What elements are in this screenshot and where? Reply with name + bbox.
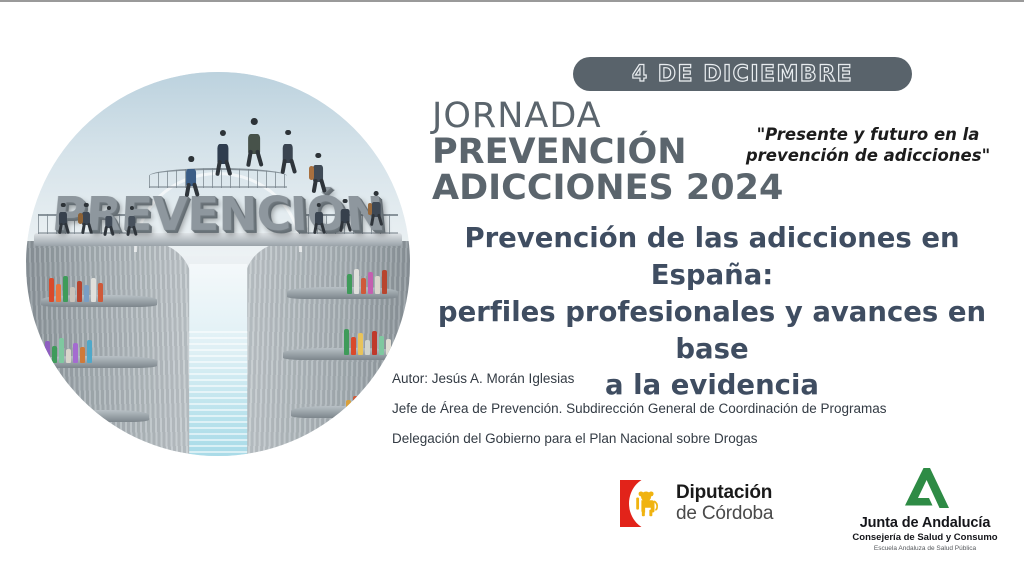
event-jornada: JORNADA [432, 98, 783, 134]
prevencion-bridge-illustration: PREVENCIÓN [26, 72, 410, 456]
author-name: Autor: Jesús A. Morán Iglesias [392, 372, 887, 386]
tagline-line-1: "Presente y futuro en la [742, 124, 994, 145]
diputacion-line-1: Diputación [676, 483, 773, 503]
event-name-block: JORNADA PREVENCIÓN ADICCIONES 2024 [432, 98, 783, 206]
walking-person [126, 206, 138, 235]
andalucia-a-icon [901, 468, 949, 508]
event-prevencion: PREVENCIÓN [432, 134, 783, 170]
river [189, 264, 247, 456]
walking-person [80, 203, 93, 234]
diputacion-lion-icon [620, 480, 667, 527]
logo-bar: Diputación de Córdoba Junta de Andalucía… [620, 468, 1000, 548]
bottle-cluster [57, 391, 90, 421]
bottle-cluster [346, 387, 379, 417]
walking-person [313, 203, 326, 234]
walking-person [245, 118, 264, 167]
walking-person [310, 153, 326, 193]
junta-line-2: Consejería de Salud y Consumo [850, 532, 1000, 543]
walking-person [214, 130, 232, 176]
bottle-cluster [344, 325, 391, 355]
date-badge: 4 DE DICIEMBRE [573, 57, 912, 91]
bottle-cluster [45, 333, 92, 363]
diputacion-line-2: de Córdoba [676, 504, 773, 524]
walking-person [57, 203, 70, 234]
event-tagline: "Presente y futuro en la prevención de a… [742, 124, 994, 166]
walking-person [369, 191, 383, 226]
walking-person [103, 206, 115, 235]
logo-diputacion-cordoba: Diputación de Córdoba [620, 480, 773, 527]
junta-line-1: Junta de Andalucía [850, 515, 1000, 531]
author-position: Jefe de Área de Prevención. Subdirección… [392, 402, 887, 416]
title-line-2: perfiles profesionales y avances en base [408, 294, 1016, 368]
bottle-cluster [49, 272, 103, 302]
bridge-word-prevencion: PREVENCIÓN [49, 188, 386, 242]
junta-line-3: Escuela Andaluza de Salud Pública [850, 545, 1000, 552]
walking-person [183, 156, 199, 196]
tagline-line-2: prevención de adicciones" [742, 145, 994, 166]
logo-junta-andalucia: Junta de Andalucía Consejería de Salud y… [850, 468, 1000, 552]
author-organization: Delegación del Gobierno para el Plan Nac… [392, 432, 887, 446]
bottle-cluster [347, 264, 387, 294]
author-block: Autor: Jesús A. Morán Iglesias Jefe de Á… [392, 372, 887, 463]
lion-glyph-icon [632, 488, 662, 520]
walking-person [338, 199, 352, 232]
event-adicciones-2024: ADICCIONES 2024 [432, 170, 783, 206]
diputacion-wordmark: Diputación de Córdoba [676, 483, 773, 523]
presentation-slide: PREVENCIÓN [0, 0, 1024, 576]
date-badge-label: 4 DE DICIEMBRE [632, 62, 853, 87]
walking-person [279, 130, 296, 175]
title-line-1: Prevención de las adicciones en España: [408, 220, 1016, 294]
